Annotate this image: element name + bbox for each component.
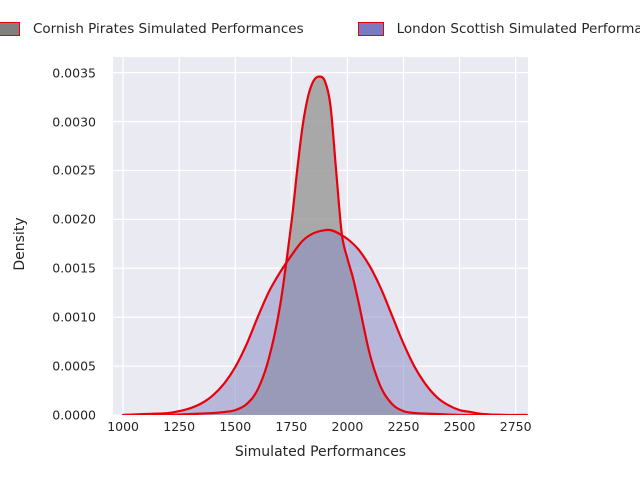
plot-area xyxy=(113,57,528,415)
legend-swatch-cornish-pirates xyxy=(0,22,20,36)
x-axis-label: Simulated Performances xyxy=(113,444,528,460)
legend-label-london-scottish: London Scottish Simulated Performanc xyxy=(397,18,640,40)
y-tick-label: 0.0025 xyxy=(36,163,96,178)
legend-entry-cornish-pirates[interactable]: Cornish Pirates Simulated Performances xyxy=(0,18,304,40)
density-area-london-scottish xyxy=(123,230,527,415)
chart-legend: Cornish Pirates Simulated Performances L… xyxy=(0,18,640,40)
y-tick-label: 0.0020 xyxy=(36,212,96,227)
y-tick-label: 0.0000 xyxy=(36,408,96,423)
legend-label-cornish-pirates: Cornish Pirates Simulated Performances xyxy=(33,18,304,40)
y-tick-label: 0.0010 xyxy=(36,310,96,325)
kde-density-figure: Cornish Pirates Simulated Performances L… xyxy=(0,0,640,480)
y-tick-label: 0.0015 xyxy=(36,261,96,276)
y-tick-label: 0.0030 xyxy=(36,114,96,129)
y-axis-label: Density xyxy=(12,164,28,324)
series-areas xyxy=(123,77,527,415)
y-tick-label: 0.0005 xyxy=(36,359,96,374)
legend-swatch-london-scottish xyxy=(358,22,384,36)
density-curves-svg xyxy=(113,57,528,415)
legend-entry-london-scottish[interactable]: London Scottish Simulated Performanc xyxy=(358,18,640,40)
x-tick-label: 2750 xyxy=(481,419,551,434)
y-tick-label: 0.0035 xyxy=(36,65,96,80)
